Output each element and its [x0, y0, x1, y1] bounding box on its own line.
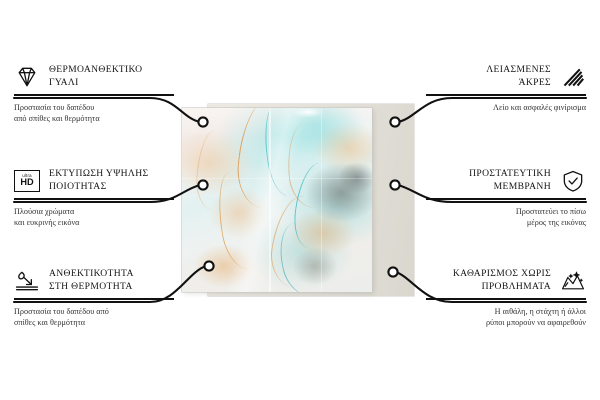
feature-header: ΛΕΙΑΣΜΕΝΕΣ ΆΚΡΕΣ — [426, 64, 586, 89]
feature-title: ΛΕΙΑΣΜΕΝΕΣ ΆΚΡΕΣ — [486, 64, 551, 89]
sparkle-clean-icon — [560, 269, 586, 293]
heat-spark-deflect-icon — [14, 269, 40, 293]
feature-title: ΑΝΘΕΚΤΙΚΟΤΗΤΑ ΣΤΗ ΘΕΡΜΟΤΗΤΑ — [49, 268, 134, 293]
feature-polished-edges: ΛΕΙΑΣΜΕΝΕΣ ΆΚΡΕΣ Λείο και ασφαλές φινίρι… — [426, 64, 586, 113]
feature-title: ΘΕΡΜΟΑΝΘΕΚΤΙΚΟ ΓΥΑΛΙ — [49, 64, 142, 89]
product-front-panel — [182, 108, 372, 292]
feature-description: Προστατεύει το πίσω μέρος της εικόνας — [426, 206, 586, 229]
ultra-hd-icon: ultra HD — [14, 170, 40, 192]
feature-description: Προστασία του δαπέδου από σπίθες και θερ… — [14, 306, 174, 329]
infographic-stage: ΘΕΡΜΟΑΝΘΕΚΤΙΚΟ ΓΥΑΛΙ Προστασία του δαπέδ… — [0, 0, 600, 400]
diamond-icon — [14, 65, 40, 89]
polished-edges-icon — [560, 65, 586, 89]
shield-check-icon — [560, 169, 586, 193]
feature-header: ΑΝΘΕΚΤΙΚΟΤΗΤΑ ΣΤΗ ΘΕΡΜΟΤΗΤΑ — [14, 268, 174, 293]
product-image — [182, 108, 414, 292]
feature-header: ΚΑΘΑΡΙΣΜΟΣ ΧΩΡΙΣ ΠΡΟΒΛΗΜΑΤΑ — [426, 268, 586, 293]
feature-title: ΠΡΟΣΤΑΤΕΥΤΙΚΗ ΜΕΜΒΡΑΝΗ — [469, 168, 551, 193]
feature-underline — [426, 94, 586, 96]
feature-description: Λείο και ασφαλές φινίρισμα — [426, 102, 586, 113]
feature-underline — [14, 298, 174, 300]
feature-underline — [14, 94, 174, 96]
feature-header: ultra HD ΕΚΤΥΠΩΣΗ ΥΨΗΛΗΣ ΠΟΙΟΤΗΤΑΣ — [14, 168, 174, 193]
feature-description: Η αιθάλη, η στάχτη ή άλλοι ρύποι μπορούν… — [426, 306, 586, 329]
ultra-hd-badge-main: HD — [20, 178, 33, 187]
feature-high-quality-print: ultra HD ΕΚΤΥΠΩΣΗ ΥΨΗΛΗΣ ΠΟΙΟΤΗΤΑΣ Πλούσ… — [14, 168, 174, 229]
feature-underline — [14, 198, 174, 200]
feature-title: ΕΚΤΥΠΩΣΗ ΥΨΗΛΗΣ ΠΟΙΟΤΗΤΑΣ — [49, 168, 148, 193]
feature-protective-film: ΠΡΟΣΤΑΤΕΥΤΙΚΗ ΜΕΜΒΡΑΝΗ Προστατεύει το πί… — [426, 168, 586, 229]
feature-heat-resistant-glass: ΘΕΡΜΟΑΝΘΕΚΤΙΚΟ ΓΥΑΛΙ Προστασία του δαπέδ… — [14, 64, 174, 125]
feature-description: Πλούσια χρώματα και ευκρινής εικόνα — [14, 206, 174, 229]
feature-header: ΠΡΟΣΤΑΤΕΥΤΙΚΗ ΜΕΜΒΡΑΝΗ — [426, 168, 586, 193]
feature-header: ΘΕΡΜΟΑΝΘΕΚΤΙΚΟ ΓΥΑΛΙ — [14, 64, 174, 89]
glass-sheen-overlay — [182, 108, 372, 292]
feature-underline — [426, 298, 586, 300]
feature-heat-durability: ΑΝΘΕΚΤΙΚΟΤΗΤΑ ΣΤΗ ΘΕΡΜΟΤΗΤΑ Προστασία το… — [14, 268, 174, 329]
feature-title: ΚΑΘΑΡΙΣΜΟΣ ΧΩΡΙΣ ΠΡΟΒΛΗΜΑΤΑ — [453, 268, 551, 293]
feature-description: Προστασία του δαπέδου από σπίθες και θερ… — [14, 102, 174, 125]
feature-underline — [426, 198, 586, 200]
feature-easy-cleaning: ΚΑΘΑΡΙΣΜΟΣ ΧΩΡΙΣ ΠΡΟΒΛΗΜΑΤΑ Η αιθάλη, η … — [426, 268, 586, 329]
